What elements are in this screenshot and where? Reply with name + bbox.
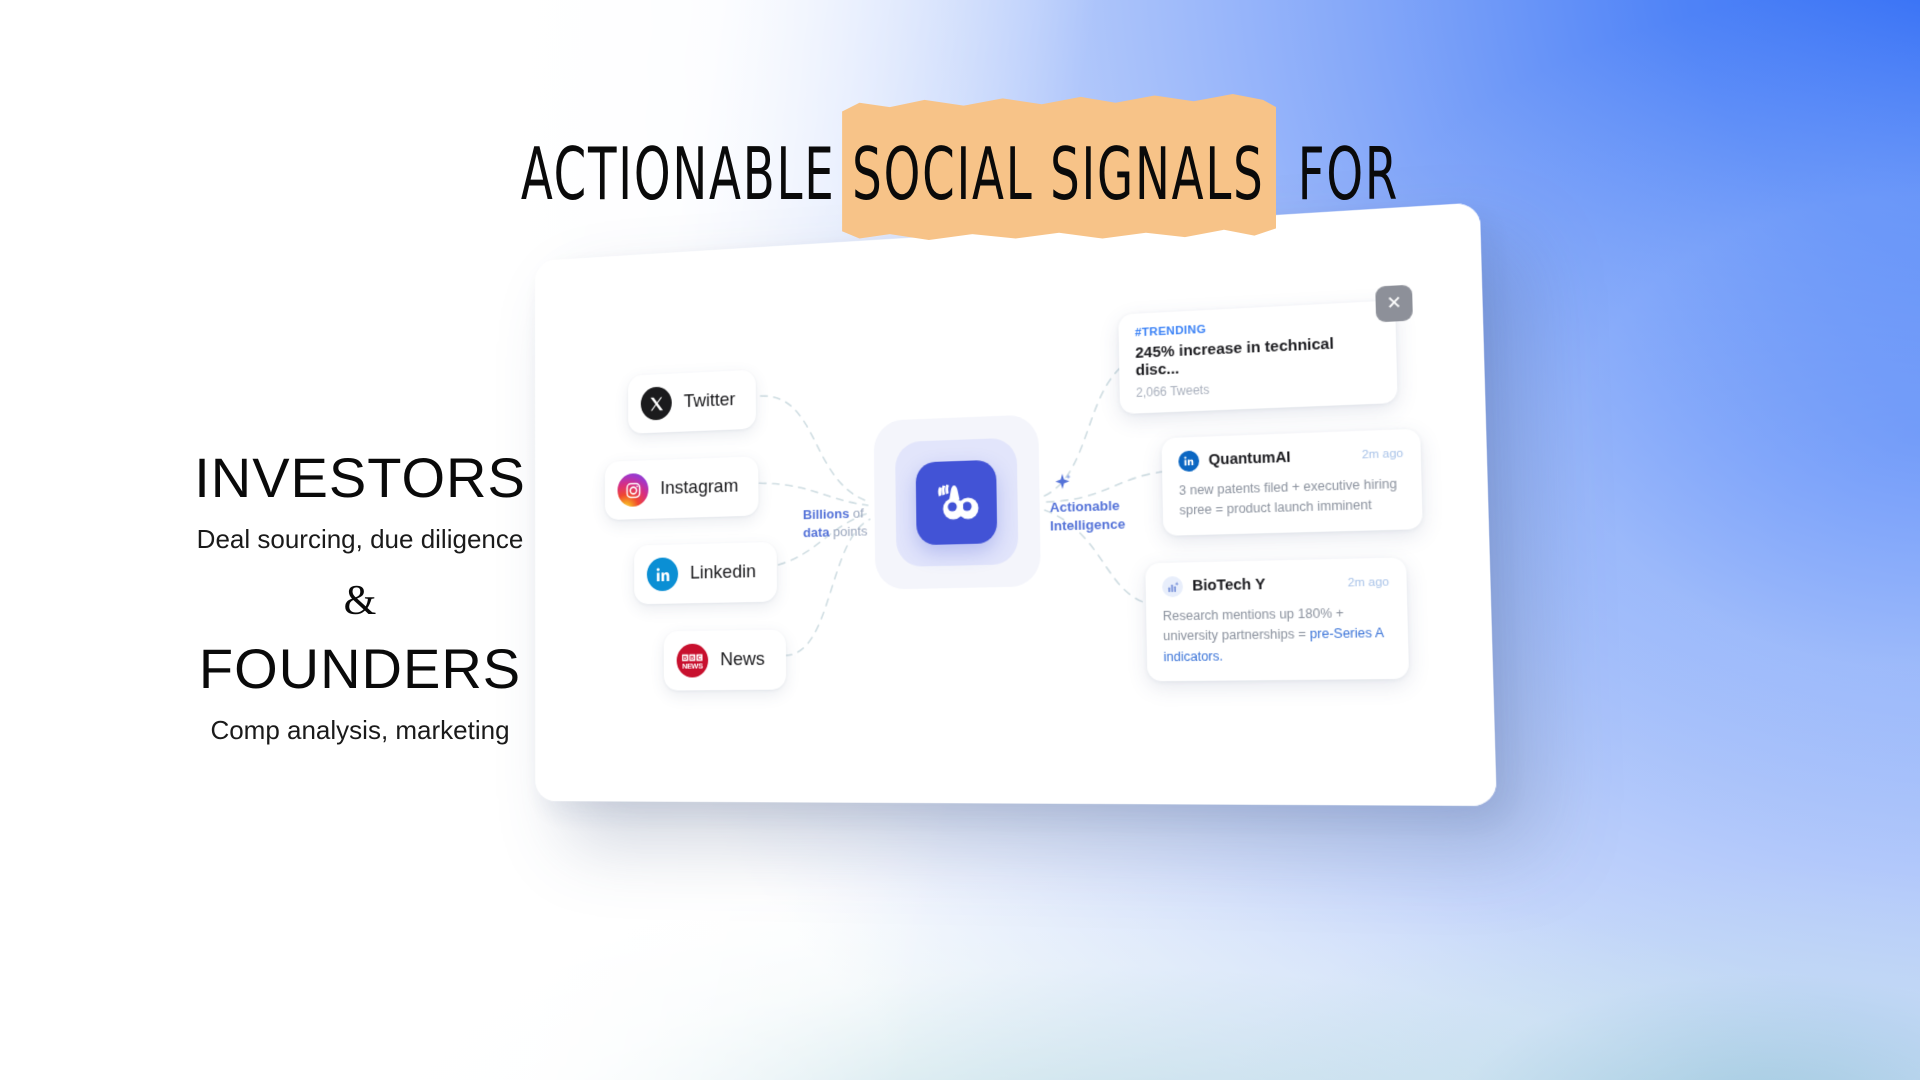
binoculars-logo-icon: [932, 482, 980, 524]
x-twitter-icon: [641, 386, 672, 420]
instagram-icon: [617, 473, 648, 507]
founders-subtitle: Comp analysis, marketing: [150, 715, 570, 746]
source-chip-linkedin[interactable]: Linkedin: [634, 542, 777, 604]
right-label-line-1: Actionable: [1050, 498, 1120, 516]
page-headline: ACTIONABLE SOCIAL SIGNALS FOR: [269, 132, 1651, 216]
center-logo: [916, 460, 998, 546]
source-chip-label: Linkedin: [690, 561, 756, 584]
dashboard-card-inner: Billions of data points Actionable Intel…: [535, 202, 1497, 806]
dashboard-card: Billions of data points Actionable Intel…: [535, 202, 1497, 806]
biotech-name: BioTech Y: [1192, 576, 1265, 594]
founders-title: FOUNDERS: [150, 641, 570, 697]
sparkle-icon: [1053, 472, 1071, 491]
source-chip-label: News: [720, 649, 765, 671]
source-chip-news[interactable]: B B C NEWS News: [664, 629, 786, 690]
left-label-strong: Billions: [803, 506, 850, 522]
right-label-line-2: Intelligence: [1050, 516, 1126, 534]
trending-result-card[interactable]: #TRENDING 245% increase in technical dis…: [1118, 300, 1397, 414]
trending-meta: 2,066 Tweets: [1136, 375, 1380, 400]
left-connector-label: Billions of data points: [803, 504, 868, 541]
ampersand-separator: &: [150, 577, 570, 625]
bbc-news-icon: B B C NEWS: [677, 644, 709, 678]
investors-title: INVESTORS: [150, 450, 570, 506]
founders-block: FOUNDERS Comp analysis, marketing: [150, 641, 570, 746]
quantum-name: QuantumAI: [1208, 449, 1290, 469]
headline-part-1: ACTIONABLE: [521, 132, 836, 216]
chart-spark-icon: [1162, 576, 1183, 597]
quantum-result-card[interactable]: QuantumAI 2m ago 3 new patents filed + e…: [1161, 429, 1422, 536]
quantum-card-header: QuantumAI 2m ago: [1178, 443, 1403, 472]
headline-highlighted: SOCIAL SIGNALS: [852, 132, 1264, 216]
quantum-time: 2m ago: [1362, 447, 1404, 461]
linkedin-icon: [1178, 450, 1199, 472]
biotech-time: 2m ago: [1347, 576, 1389, 590]
source-chip-twitter[interactable]: Twitter: [628, 370, 756, 434]
right-connector-label: Actionable Intelligence: [1050, 496, 1126, 534]
biotech-card-header: BioTech Y 2m ago: [1162, 572, 1389, 598]
investors-subtitle: Deal sourcing, due diligence: [150, 524, 570, 555]
trending-title: 245% increase in technical disc...: [1135, 333, 1379, 380]
source-chip-label: Instagram: [660, 476, 738, 500]
linkedin-icon: [647, 557, 678, 591]
svg-text:NEWS: NEWS: [682, 662, 703, 671]
left-label-rest-2: points: [829, 523, 867, 539]
source-chip-instagram[interactable]: Instagram: [605, 456, 759, 520]
dashboard-stage: Billions of data points Actionable Intel…: [505, 236, 1465, 796]
source-chip-label: Twitter: [684, 389, 736, 413]
biotech-body: Research mentions up 180% + university p…: [1163, 603, 1392, 668]
close-icon[interactable]: ✕: [1375, 285, 1413, 323]
left-label-strong-2: data: [803, 524, 830, 540]
headline-part-2: FOR: [1298, 132, 1399, 216]
headline-highlight-wrap: SOCIAL SIGNALS: [852, 132, 1264, 216]
audience-column: INVESTORS Deal sourcing, due diligence &…: [150, 450, 570, 746]
biotech-result-card[interactable]: BioTech Y 2m ago Research mentions up 18…: [1145, 557, 1409, 681]
left-label-rest: of: [849, 505, 864, 520]
quantum-body: 3 new patents filed + executive hiring s…: [1179, 474, 1405, 522]
